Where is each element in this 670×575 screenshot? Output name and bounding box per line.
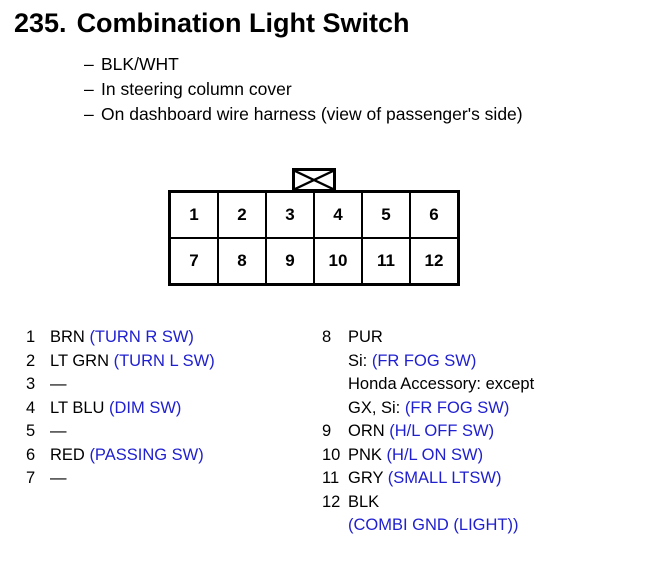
pin-signal-name: (PASSING SW) (89, 446, 203, 464)
pin-legend-number: 8 (322, 326, 348, 420)
pin-wire-color: BLK (348, 493, 379, 511)
pin-signal-name: (FR FOG SW) (372, 352, 476, 370)
pin-signal-name: (DIM SW) (109, 399, 181, 417)
pin-signal-name: (FR FOG SW) (405, 399, 509, 417)
connector-latch-tab-icon (292, 168, 336, 192)
wiring-connector-page: 235.Combination Light Switch –BLK/WHT –I… (0, 0, 670, 575)
pin-variant-label: Honda Accessory: except (348, 375, 534, 393)
pin-legend-body: — (50, 373, 215, 397)
pin-legend-body: GRY (SMALL LTSW) (348, 467, 534, 491)
pin-cell-9: 9 (266, 238, 314, 285)
pin-legend-body: BRN (TURN R SW) (50, 326, 215, 350)
note-dash-icon: – (84, 102, 101, 127)
pin-legend-number: 4 (26, 397, 50, 421)
note-text: In steering column cover (101, 79, 292, 99)
connector-diagram: 1 2 3 4 5 6 7 8 9 10 11 12 (168, 190, 460, 286)
pin-wire-color: — (50, 469, 67, 487)
pin-wire-color: BRN (50, 328, 85, 346)
pin-wire-color: — (50, 422, 67, 440)
pin-cell-8: 8 (218, 238, 266, 285)
page-title-text: Combination Light Switch (77, 8, 410, 38)
note-text: On dashboard wire harness (view of passe… (101, 104, 523, 124)
pin-signal-name: (H/L OFF SW) (389, 422, 494, 440)
pin-grid-row-top: 1 2 3 4 5 6 (170, 192, 459, 239)
pin-legend-number: 6 (26, 444, 50, 468)
pin-legend-body: — (50, 467, 215, 491)
pin-cell-6: 6 (410, 192, 459, 239)
pin-wire-color: RED (50, 446, 85, 464)
pin-variant-label: GX, Si: (348, 399, 405, 417)
pin-cell-12: 12 (410, 238, 459, 285)
pin-wire-color: ORN (348, 422, 385, 440)
pin-cell-5: 5 (362, 192, 410, 239)
pin-legend-number: 1 (26, 326, 50, 350)
pin-wire-color: PUR (348, 328, 383, 346)
pin-legend-body: LT BLU (DIM SW) (50, 397, 215, 421)
note-dash-icon: – (84, 77, 101, 102)
pin-legend-number: 5 (26, 420, 50, 444)
pin-grid-row-bottom: 7 8 9 10 11 12 (170, 238, 459, 285)
notes-list: –BLK/WHT –In steering column cover –On d… (84, 52, 523, 127)
pin-legend-body: RED (PASSING SW) (50, 444, 215, 468)
pin-wire-color: LT GRN (50, 352, 109, 370)
pin-legend-subline: Si: (FR FOG SW) (348, 350, 534, 374)
page-title: 235.Combination Light Switch (14, 8, 410, 39)
pin-legend-number: 2 (26, 350, 50, 374)
pin-legend-row: 6 RED (PASSING SW) (26, 444, 215, 468)
pin-legend-row: 12 BLK (COMBI GND (LIGHT)) (322, 491, 534, 538)
pin-legend-number: 7 (26, 467, 50, 491)
note-item: –On dashboard wire harness (view of pass… (84, 102, 523, 127)
note-item: –BLK/WHT (84, 52, 523, 77)
pin-signal-name: (TURN R SW) (89, 328, 193, 346)
pin-legend-row: 1 BRN (TURN R SW) (26, 326, 215, 350)
pin-legend-row: 2 LT GRN (TURN L SW) (26, 350, 215, 374)
pin-legend-row: 9 ORN (H/L OFF SW) (322, 420, 534, 444)
pin-legend-body: ORN (H/L OFF SW) (348, 420, 534, 444)
pin-legend-row: 10 PNK (H/L ON SW) (322, 444, 534, 468)
pin-signal-name: (COMBI GND (LIGHT)) (348, 516, 519, 534)
page-title-number: 235. (14, 8, 67, 38)
pin-cell-7: 7 (170, 238, 219, 285)
pin-cell-4: 4 (314, 192, 362, 239)
pin-legend-row: 8 PUR Si: (FR FOG SW) Honda Accessory: e… (322, 326, 534, 420)
pin-cell-10: 10 (314, 238, 362, 285)
note-dash-icon: – (84, 52, 101, 77)
pin-wire-color: LT BLU (50, 399, 104, 417)
pin-cell-3: 3 (266, 192, 314, 239)
pin-legend-body: PNK (H/L ON SW) (348, 444, 534, 468)
pin-legend-subline: (COMBI GND (LIGHT)) (348, 514, 534, 538)
pin-signal-name: (SMALL LTSW) (388, 469, 502, 487)
pin-legend-number: 3 (26, 373, 50, 397)
pin-legend-row: 5 — (26, 420, 215, 444)
pin-signal-name: (TURN L SW) (114, 352, 215, 370)
connector-pin-grid: 1 2 3 4 5 6 7 8 9 10 11 12 (168, 190, 460, 286)
pin-legend-number: 10 (322, 444, 348, 468)
pin-legend-body: LT GRN (TURN L SW) (50, 350, 215, 374)
pin-cell-1: 1 (170, 192, 219, 239)
pin-legend-row: 11 GRY (SMALL LTSW) (322, 467, 534, 491)
pin-legend-row: 3 — (26, 373, 215, 397)
pin-wire-color: GRY (348, 469, 383, 487)
pin-cell-2: 2 (218, 192, 266, 239)
pin-signal-name: (H/L ON SW) (387, 446, 484, 464)
pin-legend-body: — (50, 420, 215, 444)
pin-legend-body: BLK (COMBI GND (LIGHT)) (348, 491, 534, 538)
pin-legend-subline: GX, Si: (FR FOG SW) (348, 397, 534, 421)
pin-wire-color: PNK (348, 446, 382, 464)
pin-legend-row: 7 — (26, 467, 215, 491)
pin-legend-number: 12 (322, 491, 348, 538)
pin-legend-row: 4 LT BLU (DIM SW) (26, 397, 215, 421)
pin-wire-color: — (50, 375, 67, 393)
note-text: BLK/WHT (101, 54, 179, 74)
pin-legend-body: PUR Si: (FR FOG SW) Honda Accessory: exc… (348, 326, 534, 420)
pin-legend-subline: Honda Accessory: except (348, 373, 534, 397)
pin-legend-right: 8 PUR Si: (FR FOG SW) Honda Accessory: e… (322, 326, 534, 538)
note-item: –In steering column cover (84, 77, 523, 102)
pin-legend-number: 9 (322, 420, 348, 444)
pin-variant-label: Si: (348, 352, 372, 370)
pin-legend-number: 11 (322, 467, 348, 491)
pin-cell-11: 11 (362, 238, 410, 285)
pin-legend-left: 1 BRN (TURN R SW) 2 LT GRN (TURN L SW) 3… (26, 326, 215, 491)
